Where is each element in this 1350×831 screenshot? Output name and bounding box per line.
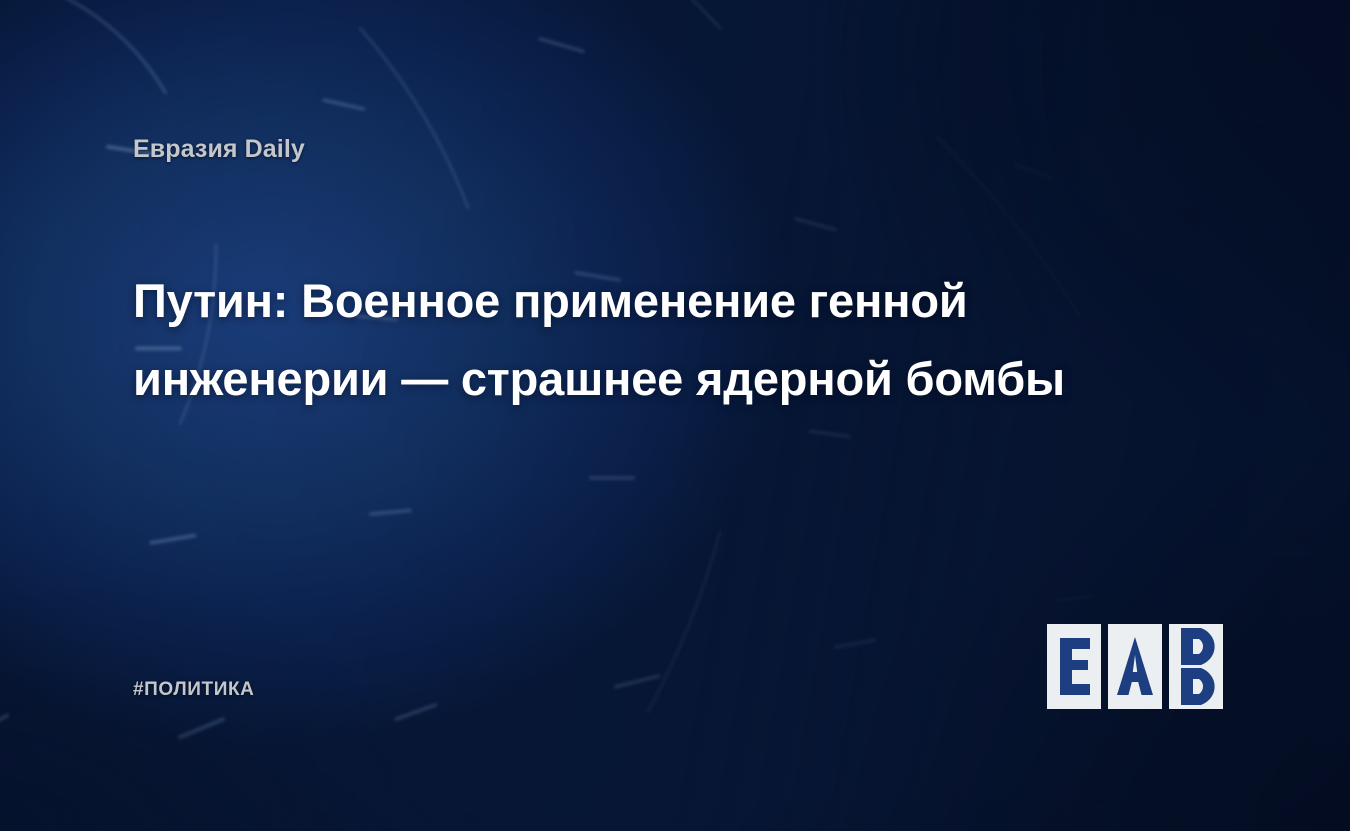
card-content: Евразия Daily Путин: Военное применение … [0,0,1350,831]
letter-e-icon [1047,624,1101,709]
ead-logo-tile-e [1047,624,1101,709]
letter-d-glyph [1169,624,1225,709]
category-hashtag: #ПОЛИТИКА [133,679,255,701]
letter-a-icon [1108,624,1162,709]
brand-name: Евразия Daily [133,135,305,164]
ead-logo-tile-a [1108,624,1162,709]
letter-d-icon [1169,624,1225,709]
ead-logo [1047,624,1225,709]
social-share-card: Евразия Daily Путин: Военное применение … [0,0,1350,831]
page-title: Путин: Военное применение генной инженер… [133,262,1223,418]
